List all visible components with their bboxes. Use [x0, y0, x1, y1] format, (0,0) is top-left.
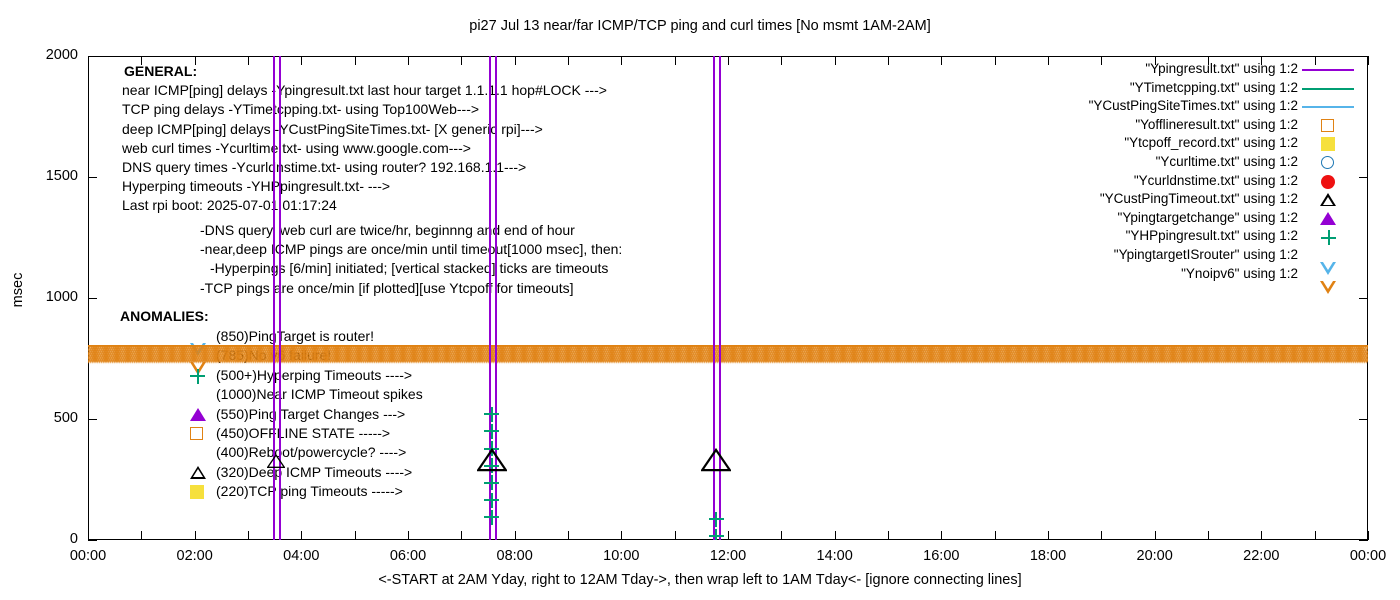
hyperping-timeout-marker [484, 475, 499, 490]
deep-icmp-timeout-marker [477, 448, 507, 477]
x-tick-label: 22:00 [1226, 548, 1296, 564]
x-tick-label: 06:00 [373, 548, 443, 564]
deep-icmp-timeout-marker [267, 454, 285, 473]
y-tick-label: 500 [0, 411, 78, 426]
hyperping-timeout-marker [709, 529, 724, 540]
legend-entry: "YTimetcpping.txt" using 1:2 [900, 79, 1360, 98]
legend-key [1300, 134, 1356, 153]
x-tick-label: 04:00 [266, 548, 336, 564]
legend-label: "Ytcpoff_record.txt" using 1:2 [1124, 134, 1298, 153]
series-legend: "Ypingresult.txt" using 1:2"YTimetcpping… [900, 60, 1360, 283]
hyperping-timeout-marker [484, 510, 499, 525]
legend-entry: "Yofflineresult.txt" using 1:2 [900, 116, 1360, 135]
legend-key [1300, 172, 1356, 191]
triangle-up-filled-icon [1320, 212, 1336, 225]
square-open-icon [1321, 119, 1334, 132]
legend-label: "Ycurltime.txt" using 1:2 [1156, 153, 1298, 172]
circle-open-icon [1321, 156, 1334, 169]
legend-label: "YCustPingTimeout.txt" using 1:2 [1100, 190, 1298, 209]
x-tick-label: 00:00 [1333, 548, 1400, 564]
legend-label: "Ynoipv6" using 1:2 [1181, 265, 1298, 284]
deep-icmp-timeout-marker [701, 448, 731, 477]
y-tick-mark [88, 540, 97, 541]
legend-entry: "Ynoipv6" using 1:2 [900, 265, 1360, 284]
legend-entry: "Ypingtargetchange" using 1:2 [900, 209, 1360, 228]
legend-line-swatch [1302, 69, 1354, 71]
legend-key [1300, 153, 1356, 172]
legend-key [1300, 265, 1356, 284]
legend-entry: "YHPpingresult.txt" using 1:2 [900, 227, 1360, 246]
legend-label: "Ypingtargetchange" using 1:2 [1118, 209, 1298, 228]
legend-label: "Yofflineresult.txt" using 1:2 [1135, 116, 1298, 135]
plus-icon [1321, 230, 1336, 245]
x-tick-label: 20:00 [1120, 548, 1190, 564]
legend-entry: "YCustPingSiteTimes.txt" using 1:2 [900, 97, 1360, 116]
legend-entry: "YCustPingTimeout.txt" using 1:2 [900, 190, 1360, 209]
legend-key [1300, 190, 1356, 209]
legend-label: "Ypingresult.txt" using 1:2 [1145, 60, 1298, 79]
legend-entry: "Ycurltime.txt" using 1:2 [900, 153, 1360, 172]
legend-key [1300, 227, 1356, 246]
legend-line-swatch [1302, 106, 1354, 108]
legend-label: "YHPpingresult.txt" using 1:2 [1126, 227, 1298, 246]
legend-entry: "YpingtargetISrouter" using 1:2 [900, 246, 1360, 265]
triangle-down-open-icon [1320, 281, 1336, 294]
x-tick-label: 00:00 [53, 548, 123, 564]
triangle-up-open-icon [1320, 193, 1336, 206]
x-tick-label: 10:00 [586, 548, 656, 564]
x-tick-mark-top [1368, 56, 1369, 65]
square-filled-icon [1321, 137, 1335, 151]
legend-entry: "Ypingresult.txt" using 1:2 [900, 60, 1360, 79]
circle-filled-icon [1321, 175, 1335, 189]
y-tick-label: 1500 [0, 169, 78, 184]
legend-key [1300, 246, 1356, 265]
legend-key [1300, 209, 1356, 228]
y-tick-label: 1000 [0, 290, 78, 305]
legend-key [1300, 60, 1356, 79]
legend-key [1300, 116, 1356, 135]
hyperping-timeout-marker [484, 493, 499, 508]
legend-entry: "Ytcpoff_record.txt" using 1:2 [900, 134, 1360, 153]
hyperping-timeout-marker [484, 407, 499, 422]
y-tick-mark-right [1359, 540, 1368, 541]
hyperping-timeout-marker [484, 424, 499, 439]
x-axis-label: <-START at 2AM Yday, right to 12AM Tday-… [0, 572, 1400, 588]
legend-label: "YpingtargetISrouter" using 1:2 [1114, 246, 1298, 265]
y-tick-label: 2000 [0, 48, 78, 63]
legend-entry: "Ycurldnstime.txt" using 1:2 [900, 172, 1360, 191]
legend-key [1300, 97, 1356, 116]
x-tick-mark [1368, 531, 1369, 540]
x-tick-label: 14:00 [800, 548, 870, 564]
legend-label: "YCustPingSiteTimes.txt" using 1:2 [1089, 97, 1298, 116]
x-tick-label: 16:00 [906, 548, 976, 564]
chart-screenshot: pi27 Jul 13 near/far ICMP/TCP ping and c… [0, 0, 1400, 600]
hyperping-timeout-marker [709, 512, 724, 527]
legend-label: "YTimetcpping.txt" using 1:2 [1130, 79, 1298, 98]
y-tick-label: 0 [0, 532, 78, 547]
legend-label: "Ycurldnstime.txt" using 1:2 [1134, 172, 1298, 191]
x-tick-label: 18:00 [1013, 548, 1083, 564]
x-tick-label: 12:00 [693, 548, 763, 564]
legend-line-swatch [1302, 88, 1354, 90]
legend-key [1300, 79, 1356, 98]
x-tick-label: 02:00 [160, 548, 230, 564]
x-tick-label: 08:00 [480, 548, 550, 564]
